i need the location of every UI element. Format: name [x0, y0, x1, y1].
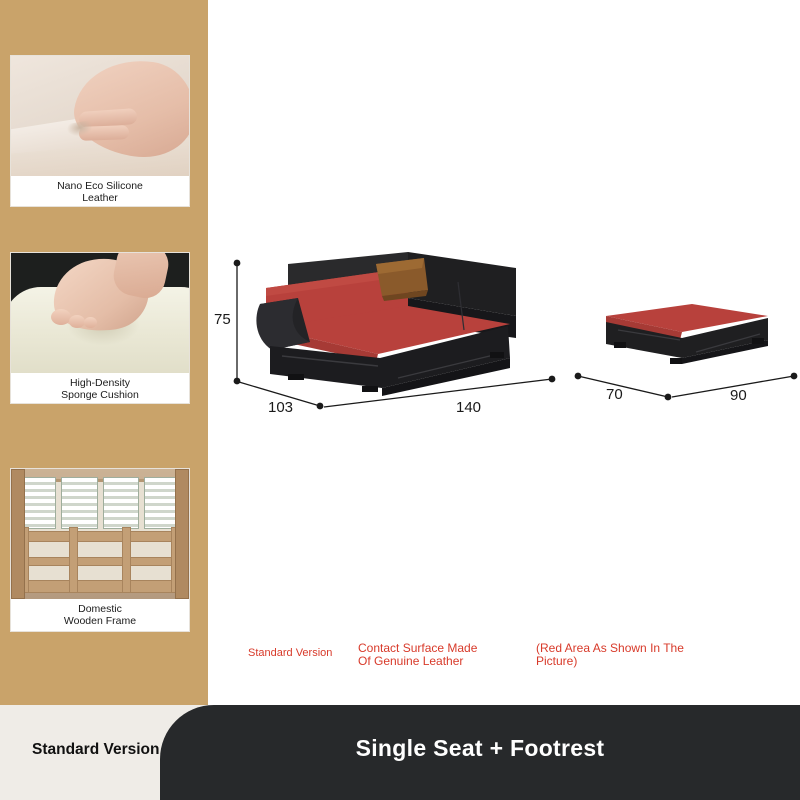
- dimension-sofa-height: 75: [214, 311, 231, 328]
- config-title: Single Seat + Footrest: [160, 735, 800, 762]
- note-contact-surface: Contact Surface Made Of Genuine Leather: [358, 642, 518, 668]
- note-row: Standard Version Contact Surface Made Of…: [248, 638, 788, 678]
- variant-label: Standard Version: [32, 741, 159, 759]
- note-standard-version: Standard Version: [248, 647, 332, 660]
- dimension-footrest-depth: 70: [606, 386, 623, 403]
- product-spec-image: Nano Eco Silicone Leather High-Density S…: [0, 0, 800, 800]
- config-bar: Single Seat + Footrest: [160, 705, 800, 800]
- dimension-footrest-width: 90: [730, 387, 747, 404]
- dimension-sofa-width: 140: [456, 399, 481, 416]
- note-red-area: (Red Area As Shown In The Picture): [536, 642, 736, 668]
- dimension-lines: [0, 0, 800, 705]
- dimension-sofa-depth: 103: [268, 399, 293, 416]
